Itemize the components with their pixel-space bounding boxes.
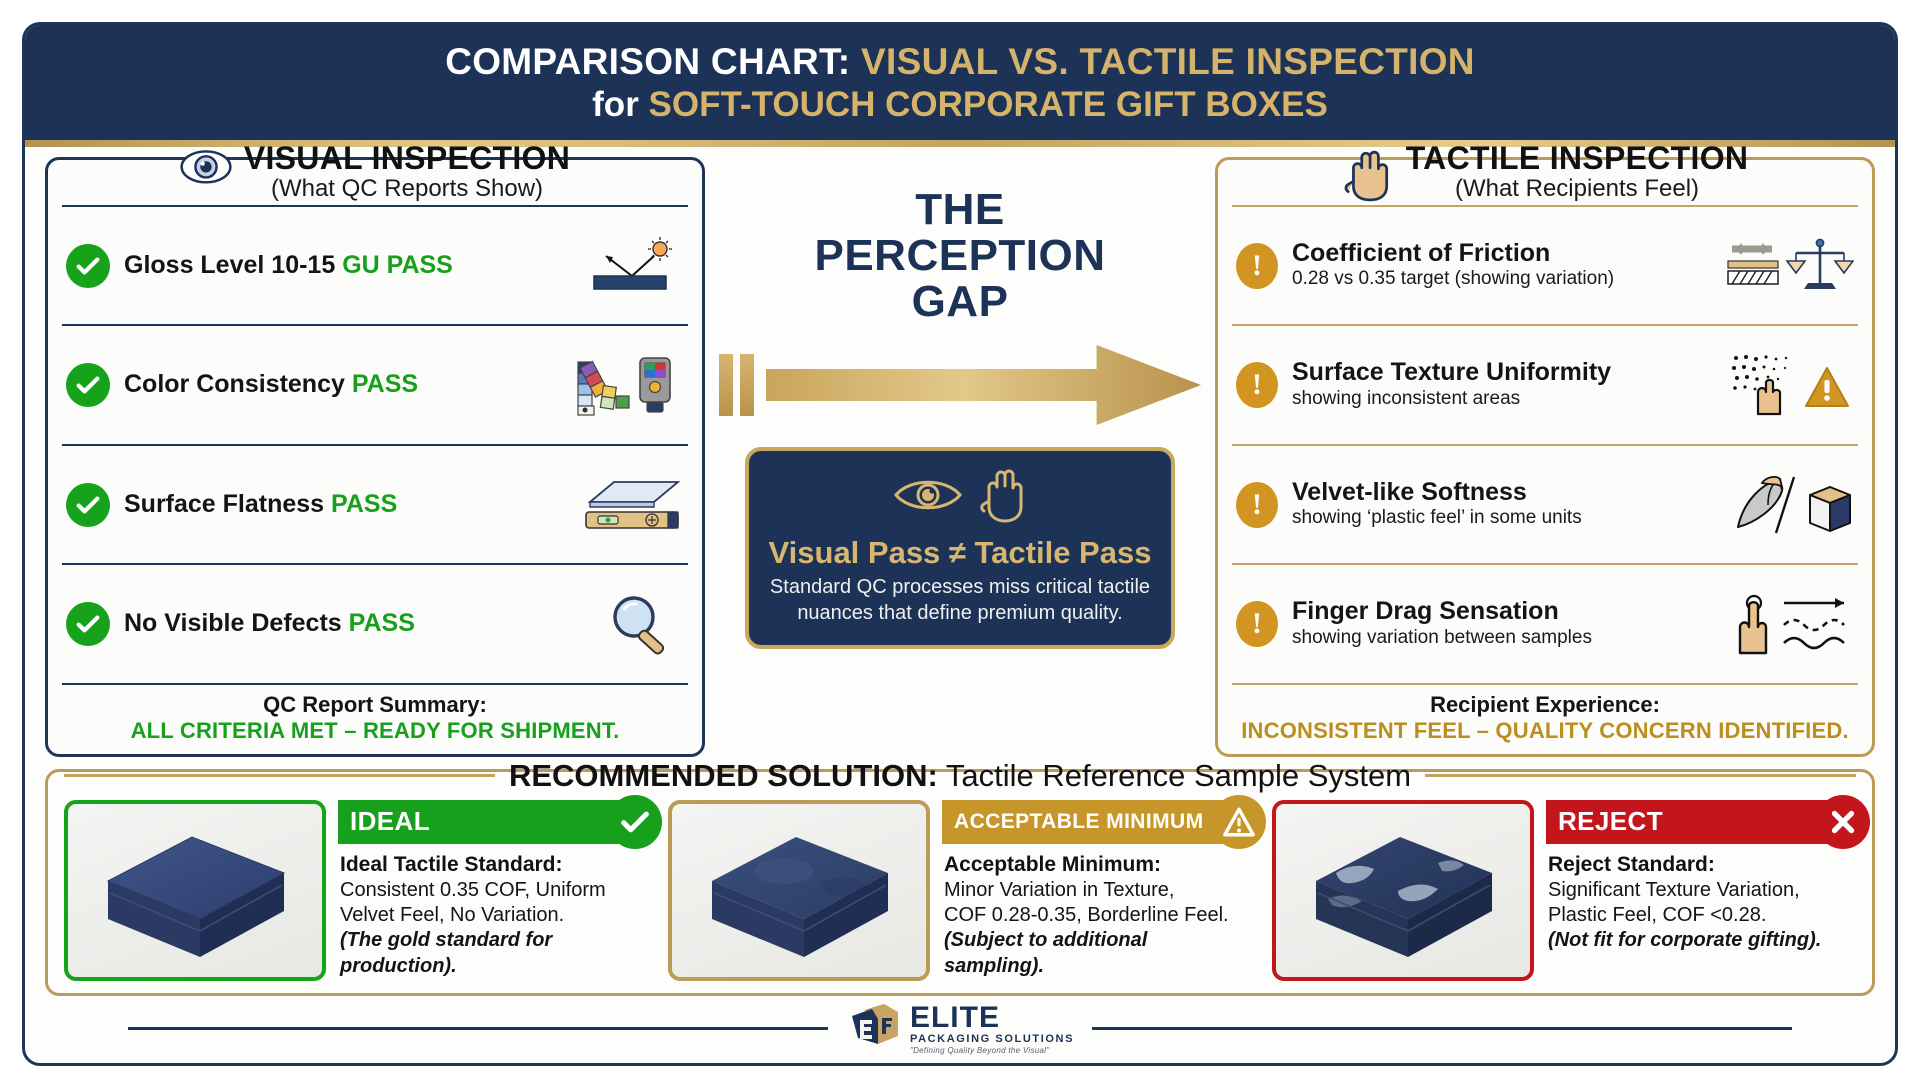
tactile-panel-subtitle: (What Recipients Feel)	[1406, 175, 1749, 203]
solution-card-reject-text: Reject Standard: Significant Texture Var…	[1546, 844, 1856, 954]
perception-gap-column: THE PERCEPTION GAP	[719, 157, 1201, 757]
subtitle-part-2: SOFT-TOUCH CORPORATE GIFT BOXES	[649, 85, 1328, 124]
comparison-columns: VISUAL INSPECTION (What QC Reports Show)…	[45, 157, 1875, 757]
feather-cube-icon	[1732, 473, 1854, 537]
check-icon	[66, 602, 110, 646]
gap-title-line3: GAP	[814, 279, 1105, 325]
footer-divider-left	[128, 1027, 828, 1030]
finger-drag-icon	[1726, 591, 1854, 657]
title-part-2: VISUAL VS. TACTILE INSPECTION	[861, 41, 1475, 82]
visual-panel-header: VISUAL INSPECTION (What QC Reports Show)	[62, 142, 688, 203]
hand-icon	[1342, 149, 1394, 195]
perception-gap-card: Visual Pass ≠ Tactile Pass Standard QC p…	[745, 447, 1175, 648]
card-heading: Ideal Tactile Standard:	[340, 852, 646, 878]
gap-title-line1: THE	[814, 187, 1105, 233]
status-badge: PASS	[331, 490, 397, 518]
ribbon-label: ACCEPTABLE MINIMUM	[954, 810, 1203, 834]
recommended-solution-section: RECOMMENDED SOLUTION: Tactile Reference …	[45, 769, 1875, 996]
tactile-summary-label: Recipient Experience:	[1232, 692, 1858, 718]
gap-card-heading: Visual Pass ≠ Tactile Pass	[765, 536, 1155, 570]
perception-gap-title: THE PERCEPTION GAP	[814, 187, 1105, 326]
card-line-1: Significant Texture Variation,	[1548, 878, 1854, 903]
criterion-label: Surface Texture Uniformity	[1292, 359, 1714, 387]
solution-title-rest: Tactile Reference Sample System	[938, 758, 1411, 793]
gap-title-line2: PERCEPTION	[814, 233, 1105, 279]
solution-card-acceptable-text: Acceptable Minimum: Minor Variation in T…	[942, 844, 1252, 979]
card-heading: Reject Standard:	[1548, 852, 1854, 878]
spirit-level-icon	[580, 476, 684, 534]
criterion-label: Gloss Level 10-15	[124, 251, 335, 279]
criterion-label: Velvet-like Softness	[1292, 479, 1718, 507]
brand-tagline: "Defining Quality Beyond the Visual"	[910, 1047, 1074, 1055]
warning-icon	[1212, 795, 1266, 849]
hand-icon	[978, 467, 1028, 528]
card-heading: Acceptable Minimum:	[944, 852, 1250, 878]
visual-summary-label: QC Report Summary:	[62, 692, 688, 718]
card-line-2: Plastic Feel, COF <0.28.	[1548, 903, 1854, 928]
color-swatch-icon	[572, 352, 684, 418]
warning-icon: !	[1236, 243, 1278, 289]
list-item: No Visible Defects PASS	[62, 563, 688, 682]
magnifier-icon	[598, 593, 684, 655]
criterion-label: Finger Drag Sensation	[1292, 598, 1712, 626]
arrow-dash-2	[740, 354, 754, 416]
check-icon	[608, 795, 662, 849]
solution-ribbon-reject: REJECT	[1546, 800, 1856, 844]
subtitle-part-1: for	[592, 85, 639, 124]
criterion-label: Surface Flatness	[124, 490, 324, 518]
body-area: VISUAL INSPECTION (What QC Reports Show)…	[25, 147, 1895, 996]
check-icon	[66, 244, 110, 288]
list-item: Gloss Level 10-15 GU PASS	[62, 205, 688, 324]
divider-right	[1425, 774, 1856, 777]
divider-left	[64, 774, 495, 777]
solution-ribbon-ideal: IDEAL	[338, 800, 648, 844]
eye-icon	[180, 149, 232, 195]
check-icon	[66, 363, 110, 407]
list-item: ! Finger Drag Sensation showing variatio…	[1232, 563, 1858, 682]
visual-panel-title: VISUAL INSPECTION	[244, 142, 570, 176]
list-item: Surface Flatness PASS	[62, 444, 688, 563]
criterion-label: Coefficient of Friction	[1292, 240, 1710, 268]
card-line-1: Minor Variation in Texture,	[944, 878, 1250, 903]
infographic-page: COMPARISON CHART: VISUAL VS. TACTILE INS…	[0, 0, 1920, 1072]
tactile-summary-value: INCONSISTENT FEEL – QUALITY CONCERN IDEN…	[1232, 718, 1858, 744]
texture-touch-icon	[1728, 352, 1854, 418]
header-banner: COMPARISON CHART: VISUAL VS. TACTILE INS…	[25, 25, 1895, 147]
gloss-meter-icon	[588, 236, 684, 296]
brand-sub: PACKAGING SOLUTIONS	[910, 1034, 1074, 1045]
elite-cube-logo-icon	[846, 1002, 902, 1055]
arrow-dash-1	[719, 354, 733, 416]
card-note: (Subject to additional sampling).	[944, 928, 1250, 978]
tactile-criteria-list: ! Coefficient of Friction 0.28 vs 0.35 t…	[1232, 205, 1858, 683]
card-line-1: Consistent 0.35 COF, Uniform	[340, 878, 646, 903]
eye-icon	[892, 472, 964, 523]
solution-card-reject: REJECT Reject Standard: Significant Text…	[1272, 800, 1856, 981]
gap-card-paragraph: Standard QC processes miss critical tact…	[765, 575, 1155, 626]
footer: ELITE PACKAGING SOLUTIONS "Defining Qual…	[25, 996, 1895, 1063]
solution-title-bold: RECOMMENDED SOLUTION:	[509, 758, 938, 793]
criterion-detail: showing inconsistent areas	[1292, 388, 1714, 411]
card-line-2: COF 0.28-0.35, Borderline Feel.	[944, 903, 1250, 928]
criterion-label: No Visible Defects	[124, 609, 342, 637]
check-icon	[66, 483, 110, 527]
solution-cards: IDEAL Ideal Tactile Standard: Consistent…	[64, 800, 1856, 981]
visual-summary-value: ALL CRITERIA MET – READY FOR SHIPMENT.	[62, 718, 688, 744]
warning-icon: !	[1236, 482, 1278, 528]
cross-icon	[1816, 795, 1870, 849]
criterion-label: Color Consistency	[124, 370, 345, 398]
list-item: ! Coefficient of Friction 0.28 vs 0.35 t…	[1232, 205, 1858, 324]
solution-ribbon-acceptable: ACCEPTABLE MINIMUM	[942, 800, 1252, 844]
card-note: (The gold standard for production).	[340, 928, 646, 978]
ribbon-label: IDEAL	[350, 806, 430, 837]
status-badge: PASS	[349, 609, 415, 637]
navy-gift-box-variation-image	[668, 800, 930, 981]
list-item: ! Velvet-like Softness showing ‘plastic …	[1232, 444, 1858, 563]
warning-icon: !	[1236, 601, 1278, 647]
list-item: Color Consistency PASS	[62, 324, 688, 443]
brand-text: ELITE PACKAGING SOLUTIONS "Defining Qual…	[910, 1003, 1074, 1055]
solution-card-ideal: IDEAL Ideal Tactile Standard: Consistent…	[64, 800, 648, 981]
warning-icon: !	[1236, 362, 1278, 408]
solution-header: RECOMMENDED SOLUTION: Tactile Reference …	[64, 758, 1856, 794]
footer-divider-right	[1092, 1027, 1792, 1030]
gold-right-arrow	[719, 339, 1201, 431]
visual-inspection-panel: VISUAL INSPECTION (What QC Reports Show)…	[45, 157, 705, 757]
card-line-2: Velvet Feel, No Variation.	[340, 903, 646, 928]
ribbon-label: REJECT	[1558, 806, 1663, 837]
status-badge: PASS	[352, 370, 418, 398]
tactile-inspection-panel: TACTILE INSPECTION (What Recipients Feel…	[1215, 157, 1875, 757]
navy-gift-box-matte-image	[64, 800, 326, 981]
card-note: (Not fit for corporate gifting).	[1548, 928, 1854, 953]
title-part-1: COMPARISON CHART:	[445, 41, 850, 82]
solution-card-ideal-text: Ideal Tactile Standard: Consistent 0.35 …	[338, 844, 648, 979]
brand-name: ELITE	[910, 1001, 1000, 1034]
list-item: ! Surface Texture Uniformity showing inc…	[1232, 324, 1858, 443]
navy-gift-box-glossy-image	[1272, 800, 1534, 981]
criterion-detail: 0.28 vs 0.35 target (showing variation)	[1292, 268, 1710, 291]
gap-card-icons	[765, 467, 1155, 528]
criterion-detail: showing variation between samples	[1292, 627, 1712, 650]
solution-title: RECOMMENDED SOLUTION: Tactile Reference …	[509, 758, 1411, 794]
visual-summary: QC Report Summary: ALL CRITERIA MET – RE…	[62, 683, 688, 744]
tactile-summary: Recipient Experience: INCONSISTENT FEEL …	[1232, 683, 1858, 744]
solution-card-ideal-body: IDEAL Ideal Tactile Standard: Consistent…	[338, 800, 648, 981]
solution-card-acceptable: ACCEPTABLE MINIMUM Acceptable Minimum: M…	[668, 800, 1252, 981]
page-title: COMPARISON CHART: VISUAL VS. TACTILE INS…	[45, 41, 1875, 82]
criterion-detail: showing ‘plastic feel’ in some units	[1292, 507, 1718, 530]
solution-card-acceptable-body: ACCEPTABLE MINIMUM Acceptable Minimum: M…	[942, 800, 1252, 981]
brand-logo: ELITE PACKAGING SOLUTIONS "Defining Qual…	[846, 1002, 1074, 1055]
visual-criteria-list: Gloss Level 10-15 GU PASS Color Consiste…	[62, 205, 688, 683]
solution-card-reject-body: REJECT Reject Standard: Significant Text…	[1546, 800, 1856, 981]
outer-frame: COMPARISON CHART: VISUAL VS. TACTILE INS…	[22, 22, 1898, 1066]
page-subtitle: for SOFT-TOUCH CORPORATE GIFT BOXES	[45, 85, 1875, 125]
tactile-panel-header: TACTILE INSPECTION (What Recipients Feel…	[1232, 142, 1858, 203]
tactile-panel-title: TACTILE INSPECTION	[1406, 142, 1749, 176]
friction-scale-icon	[1724, 235, 1854, 297]
status-badge: GU PASS	[342, 251, 453, 279]
visual-panel-subtitle: (What QC Reports Show)	[244, 175, 570, 203]
